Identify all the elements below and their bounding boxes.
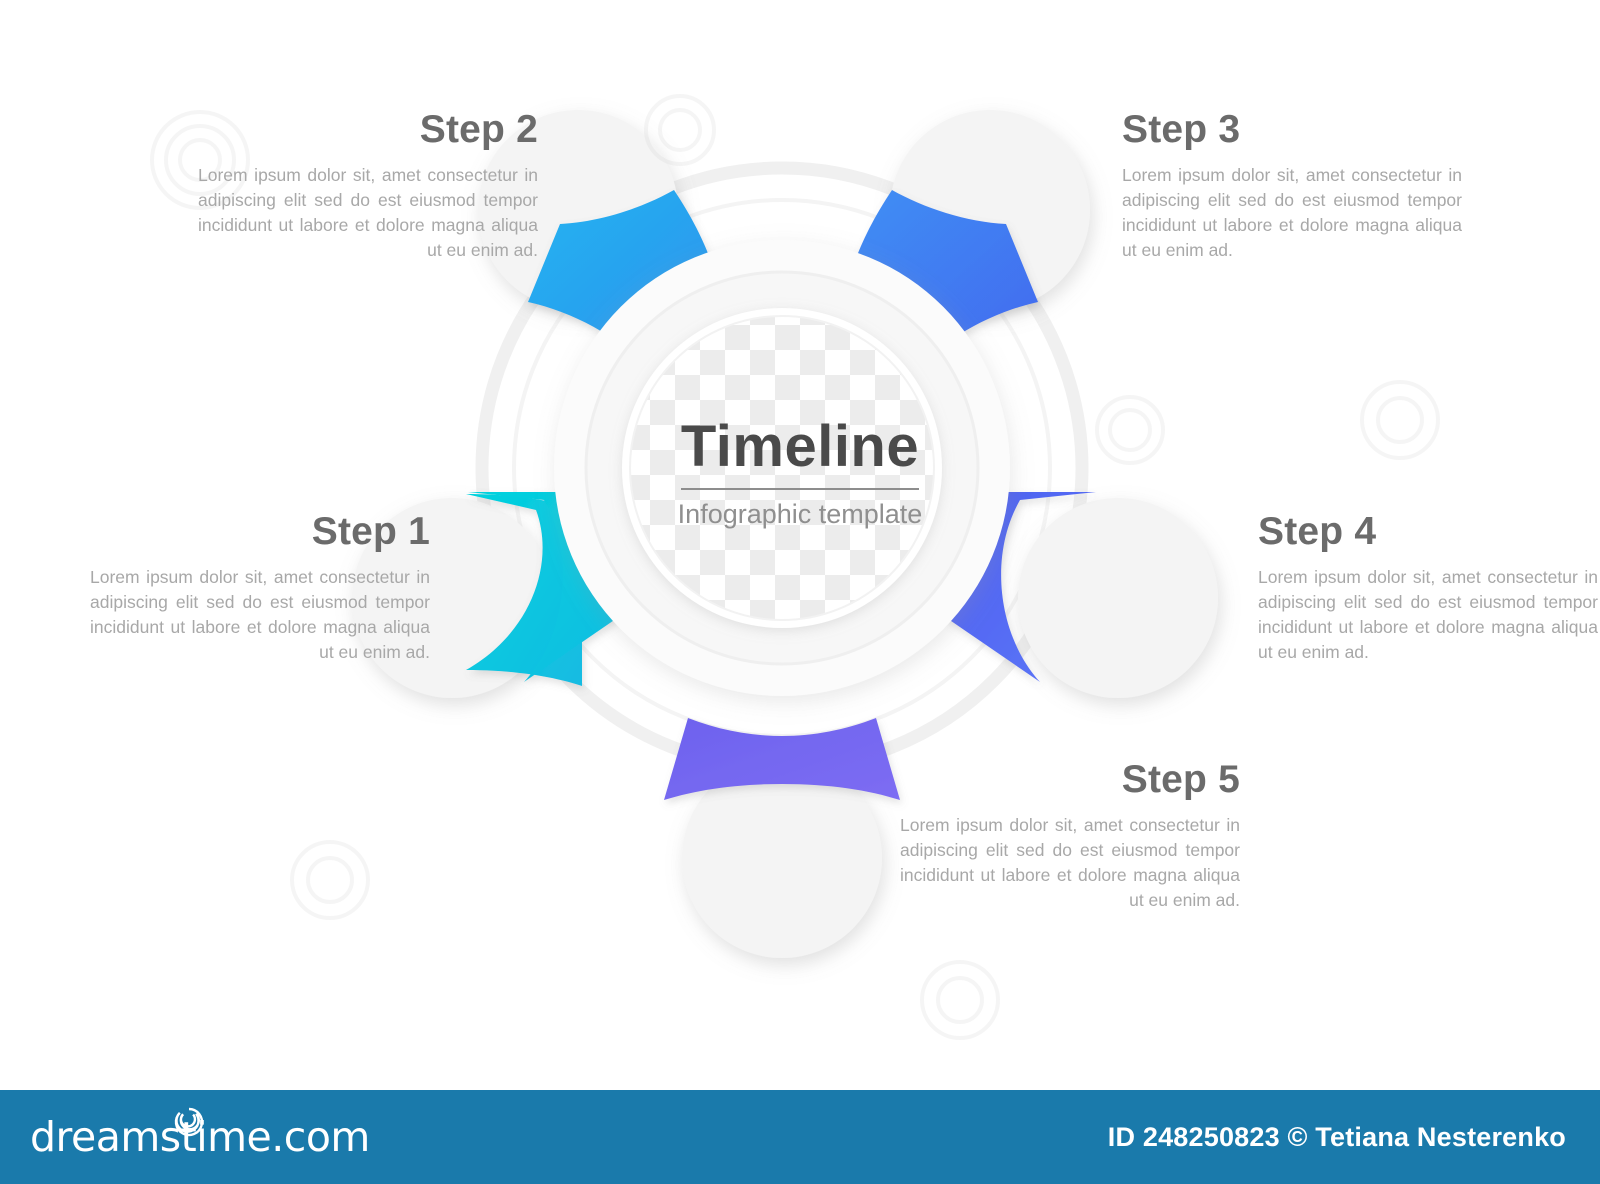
image-credit: ID 248250823 © Tetiana Nesterenko: [1108, 1122, 1566, 1153]
infographic-canvas: Timeline Infographic template Step 1 Lor…: [0, 0, 1600, 1184]
step-block-3: Step 3 Lorem ipsum dolor sit, amet conse…: [1122, 110, 1462, 262]
step-title-4: Step 4: [1258, 512, 1598, 551]
watermark-footer-bar: dreamstime.com ID 248250823 © Tetiana Ne…: [0, 1090, 1600, 1184]
step-description-3: Lorem ipsum dolor sit, amet consectetur …: [1122, 163, 1462, 262]
step-description-5: Lorem ipsum dolor sit, amet consectetur …: [900, 813, 1240, 912]
step-circle-4[interactable]: [1018, 498, 1218, 698]
dreamstime-logo[interactable]: dreamstime.com: [30, 1117, 370, 1158]
step-description-4: Lorem ipsum dolor sit, amet consectetur …: [1258, 565, 1598, 664]
step-block-1: Step 1 Lorem ipsum dolor sit, amet conse…: [90, 512, 430, 664]
step-description-2: Lorem ipsum dolor sit, amet consectetur …: [198, 163, 538, 262]
step-block-4: Step 4 Lorem ipsum dolor sit, amet conse…: [1258, 512, 1598, 664]
artboard: Timeline Infographic template Step 1 Lor…: [0, 0, 1600, 1090]
step-title-3: Step 3: [1122, 110, 1462, 149]
step-block-5: Step 5 Lorem ipsum dolor sit, amet conse…: [900, 760, 1240, 912]
step-title-1: Step 1: [90, 512, 430, 551]
step-description-1: Lorem ipsum dolor sit, amet consectetur …: [90, 565, 430, 664]
dreamstime-spiral-icon: [172, 1105, 206, 1139]
step-title-2: Step 2: [198, 110, 538, 149]
step-block-2: Step 2 Lorem ipsum dolor sit, amet conse…: [198, 110, 538, 262]
step-title-5: Step 5: [900, 760, 1240, 799]
